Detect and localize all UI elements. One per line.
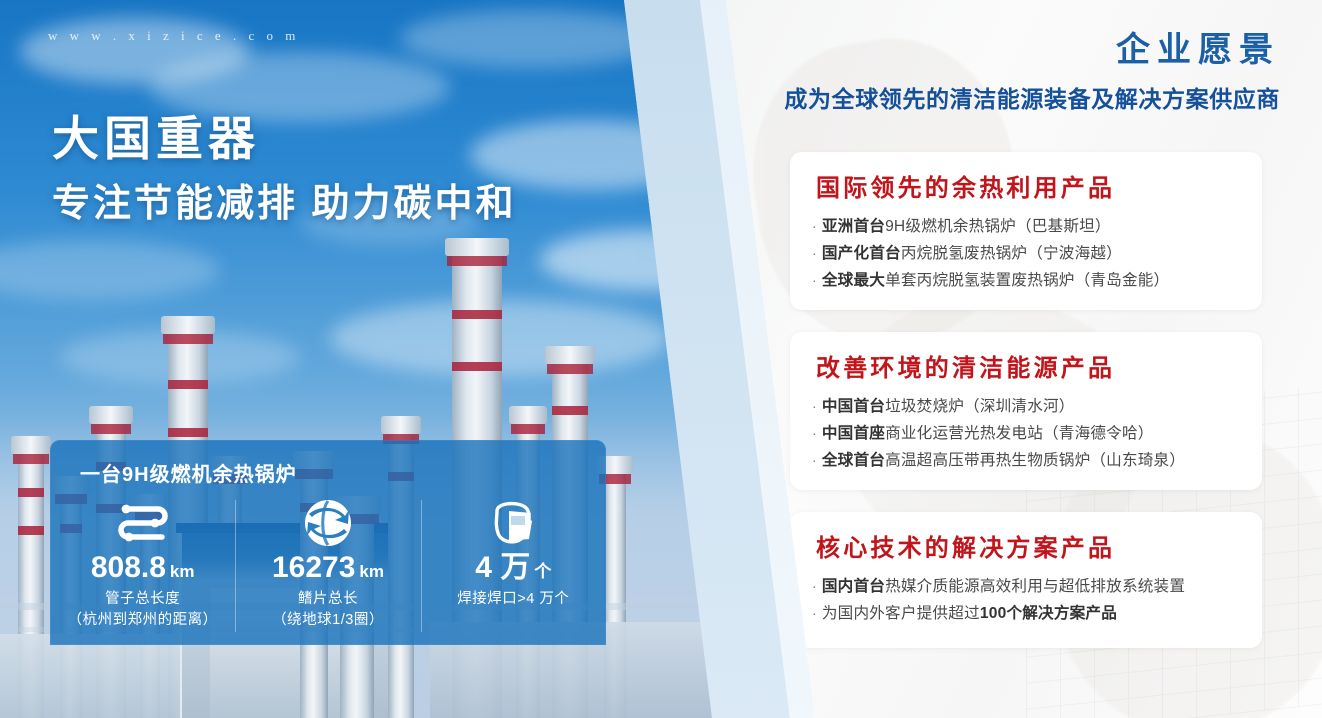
stat-label: 鳍片总长 （绕地球1/3圈） <box>235 589 420 631</box>
hero-title: 大国重器 <box>52 100 260 169</box>
stats-panel-title: 一台9H级燃机余热锅炉 <box>80 458 297 487</box>
cloud-shape <box>400 10 660 68</box>
item-rest: 单套丙烷脱氢装置废热锅炉（青岛金能） <box>885 272 1169 289</box>
hero-subtitle: 专注节能减排 助力碳中和 <box>52 172 517 227</box>
item-bold: 全球最大 <box>822 272 885 289</box>
item-rest: 高温超高压带再热生物质锅炉（山东琦泉） <box>885 452 1185 469</box>
item-rest: 热媒介质能源高效利用与超低排放系统装置 <box>885 578 1185 595</box>
vision-card-title: 改善环境的清洁能源产品 <box>816 348 1115 383</box>
item-bold: 中国首台 <box>822 398 885 415</box>
vision-card[interactable]: 国际领先的余热利用产品 ·亚洲首台9H级燃机余热锅炉（巴基斯坦） ·国产化首台丙… <box>790 152 1262 310</box>
bullet-icon: · <box>812 605 817 621</box>
item-bold: 国内首台 <box>822 578 885 595</box>
stat-item-tube-length: 808.8km 管子总长度 （杭州到郑州的距离） <box>50 498 235 631</box>
item-bold-tail: 100个解决方案产品 <box>980 605 1117 622</box>
vision-title: 企业愿景 <box>1116 22 1280 71</box>
item-bold: 全球首台 <box>822 452 885 469</box>
stat-value: 808.8km <box>50 552 235 584</box>
vision-card-list: ·中国首台垃圾焚烧炉（深圳清水河） ·中国首座商业化运营光热发电站（青海德令哈）… <box>812 394 1248 474</box>
stat-label: 管子总长度 （杭州到郑州的距离） <box>50 589 235 631</box>
list-item: ·全球最大单套丙烷脱氢装置废热锅炉（青岛金能） <box>812 268 1248 295</box>
item-rest: 商业化运营光热发电站（青海德令哈） <box>885 425 1154 442</box>
stat-unit: km <box>170 562 195 581</box>
stat-unit: 个 <box>534 562 551 581</box>
item-rest: 丙烷脱氢废热锅炉（宁波海越） <box>901 245 1122 262</box>
stat-item-weld-joints: 4 万个 焊接焊口>4 万个 <box>421 498 606 631</box>
vision-card[interactable]: 核心技术的解决方案产品 ·国内首台热媒介质能源高效利用与超低排放系统装置 ·为国… <box>790 512 1262 648</box>
stats-panel: 一台9H级燃机余热锅炉 808.8km 管子总长度 （杭州到郑州的距离） <box>50 440 606 645</box>
list-item: ·国产化首台丙烷脱氢废热锅炉（宁波海越） <box>812 241 1248 268</box>
bullet-icon: · <box>812 245 817 261</box>
item-bold: 中国首座 <box>822 425 885 442</box>
stat-label: 焊接焊口>4 万个 <box>421 589 606 610</box>
item-bold: 国产化首台 <box>822 245 901 262</box>
bullet-icon: · <box>812 452 817 468</box>
stat-value: 16273km <box>235 552 420 584</box>
bullet-icon: · <box>812 578 817 594</box>
slide-canvas: w w w . x i z i c e . c o m 大国重器 专注节能减排 … <box>0 0 1322 718</box>
website-url: w w w . x i z i c e . c o m <box>48 28 300 44</box>
stat-unit: km <box>359 562 384 581</box>
list-item: ·全球首台高温超高压带再热生物质锅炉（山东琦泉） <box>812 448 1248 475</box>
list-item: ·中国首台垃圾焚烧炉（深圳清水河） <box>812 394 1248 421</box>
list-item: ·亚洲首台9H级燃机余热锅炉（巴基斯坦） <box>812 214 1248 241</box>
stat-item-fin-length: 16273km 鳍片总长 （绕地球1/3圈） <box>235 498 420 631</box>
vision-card-list: ·亚洲首台9H级燃机余热锅炉（巴基斯坦） ·国产化首台丙烷脱氢废热锅炉（宁波海越… <box>812 214 1248 294</box>
vision-card-list: ·国内首台热媒介质能源高效利用与超低排放系统装置 ·为国内外客户提供超过100个… <box>812 574 1248 628</box>
globe-arrows-icon <box>235 498 420 548</box>
stat-value: 4 万个 <box>421 552 606 584</box>
vision-card[interactable]: 改善环境的清洁能源产品 ·中国首台垃圾焚烧炉（深圳清水河） ·中国首座商业化运营… <box>790 332 1262 490</box>
item-rest: 垃圾焚烧炉（深圳清水河） <box>885 398 1075 415</box>
list-item: ·为国内外客户提供超过100个解决方案产品 <box>812 601 1248 628</box>
item-rest: 为国内外客户提供超过 <box>822 605 980 622</box>
welding-helmet-icon <box>421 498 606 548</box>
vision-card-title: 国际领先的余热利用产品 <box>816 168 1115 203</box>
coiled-tube-icon <box>50 498 235 548</box>
bullet-icon: · <box>812 425 817 441</box>
vision-card-title: 核心技术的解决方案产品 <box>816 528 1115 563</box>
bullet-icon: · <box>812 398 817 414</box>
vision-panel: 企业愿景 成为全球领先的清洁能源装备及解决方案供应商 国际领先的余热利用产品 ·… <box>726 0 1322 718</box>
item-bold: 亚洲首台 <box>822 218 885 235</box>
list-item: ·中国首座商业化运营光热发电站（青海德令哈） <box>812 421 1248 448</box>
bullet-icon: · <box>812 218 817 234</box>
item-rest: 9H级燃机余热锅炉（巴基斯坦） <box>885 218 1111 235</box>
list-item: ·国内首台热媒介质能源高效利用与超低排放系统装置 <box>812 574 1248 601</box>
stats-row: 808.8km 管子总长度 （杭州到郑州的距离） 16 <box>50 498 606 631</box>
bullet-icon: · <box>812 272 817 288</box>
vision-subtitle: 成为全球领先的清洁能源装备及解决方案供应商 <box>784 80 1280 114</box>
